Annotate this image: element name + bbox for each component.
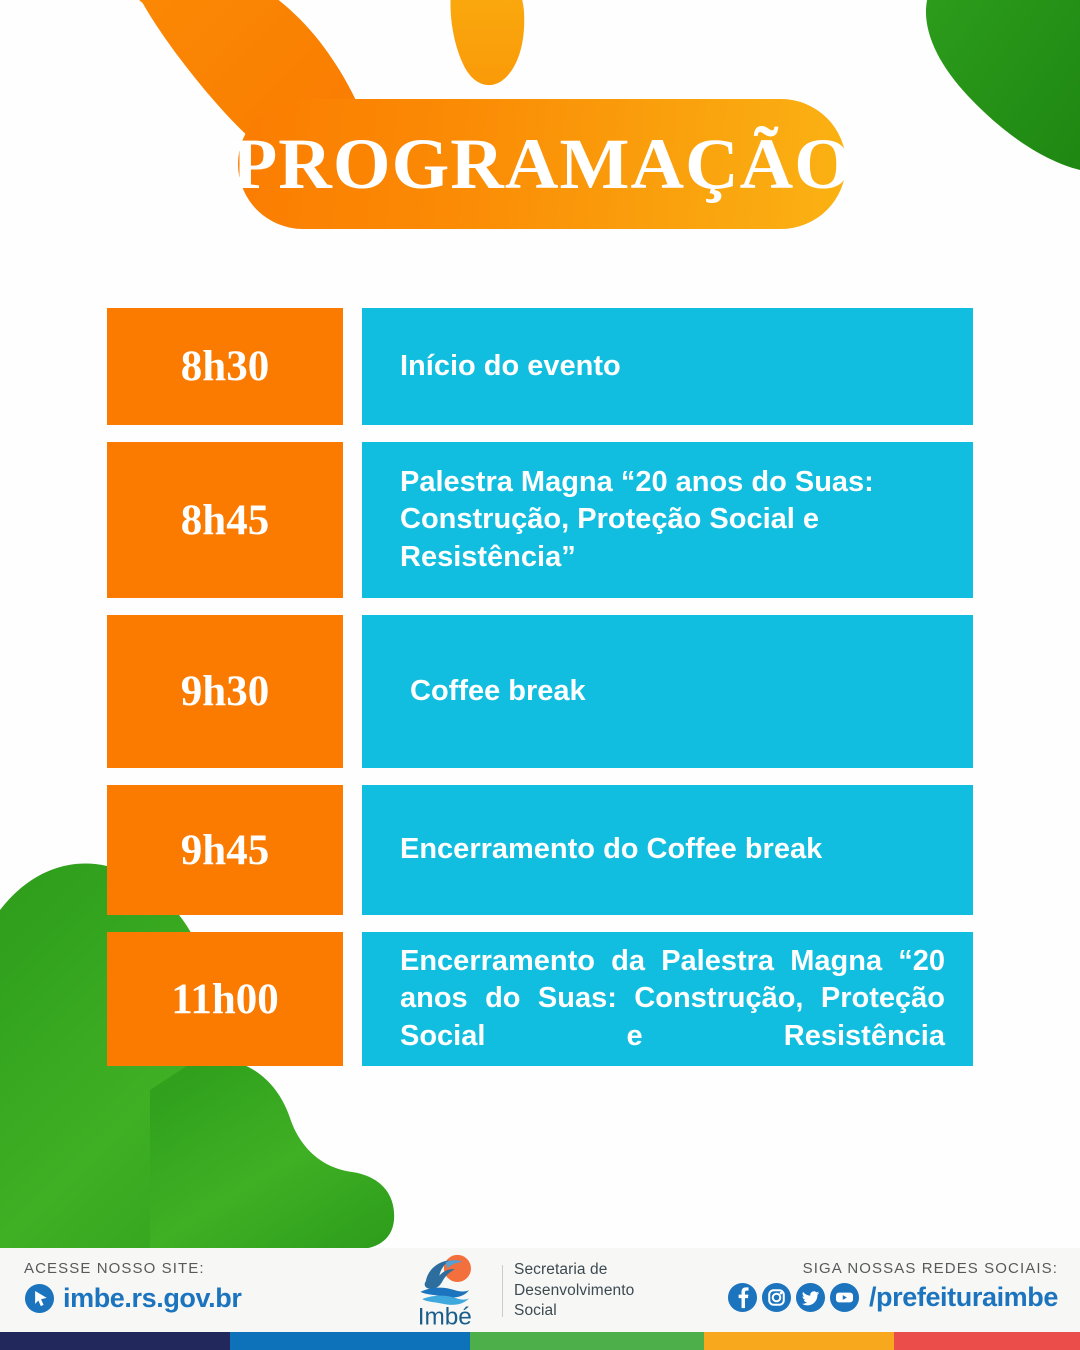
table-row: 9h45 Encerramento do Coffee break xyxy=(107,785,973,915)
brand-color-bar xyxy=(0,1332,1080,1350)
row-gap xyxy=(343,442,362,598)
schedule-description-label: Início do evento xyxy=(400,348,621,385)
footer-logo-block: Imbé Secretaria de Desenvolvimento Socia… xyxy=(413,1254,634,1328)
schedule-description-label: Encerramento do Coffee break xyxy=(400,831,822,868)
schedule-time-cell: 8h30 xyxy=(107,308,343,425)
deco-orange-drop-center xyxy=(451,0,525,85)
colorbar-segment-navy xyxy=(0,1332,230,1350)
imbe-logo: Imbé xyxy=(413,1254,491,1328)
poster-canvas: PROGRAMAÇÃO 8h30 Início do evento 8h45 P… xyxy=(0,0,1080,1350)
schedule-time-label: 9h30 xyxy=(181,670,269,713)
title-banner: PROGRAMAÇÃO xyxy=(238,99,846,229)
social-links: /prefeituraimbe xyxy=(727,1282,1058,1313)
colorbar-segment-blue xyxy=(230,1332,470,1350)
table-row: 8h30 Início do evento xyxy=(107,308,973,425)
secretaria-line-1: Secretaria de xyxy=(514,1260,634,1281)
website-url-label: imbe.rs.gov.br xyxy=(63,1283,241,1314)
colorbar-segment-green xyxy=(470,1332,704,1350)
footer-site-kicker: ACESSE NOSSO SITE: xyxy=(24,1260,241,1277)
schedule-description-cell: Coffee break xyxy=(362,615,973,768)
cursor-pointer-icon xyxy=(24,1283,55,1314)
twitter-icon[interactable] xyxy=(795,1282,826,1313)
schedule-table: 8h30 Início do evento 8h45 Palestra Magn… xyxy=(107,308,973,1066)
schedule-time-cell: 9h30 xyxy=(107,615,343,768)
instagram-icon[interactable] xyxy=(761,1282,792,1313)
schedule-time-cell: 9h45 xyxy=(107,785,343,915)
imbe-wordmark: Imbé xyxy=(418,1303,472,1328)
schedule-description-label: Palestra Magna “20 anos do Suas: Constru… xyxy=(400,464,945,575)
colorbar-segment-red xyxy=(894,1332,1080,1350)
social-handle-label: /prefeituraimbe xyxy=(869,1282,1058,1313)
schedule-time-label: 9h45 xyxy=(181,829,269,872)
footer-social-kicker: SIGA NOSSAS REDES SOCIAIS: xyxy=(727,1260,1058,1277)
schedule-description-label: Coffee break xyxy=(400,673,586,710)
page-title: PROGRAMAÇÃO xyxy=(231,128,852,200)
row-gap xyxy=(343,308,362,425)
secretaria-line-2: Desenvolvimento xyxy=(514,1281,634,1302)
schedule-time-cell: 8h45 xyxy=(107,442,343,598)
schedule-description-cell: Encerramento da Palestra Magna “20 anos … xyxy=(362,932,973,1066)
row-gap xyxy=(343,785,362,915)
website-link[interactable]: imbe.rs.gov.br xyxy=(24,1283,241,1314)
secretaria-subtitle: Secretaria de Desenvolvimento Social xyxy=(514,1260,634,1322)
schedule-description-label: Encerramento da Palestra Magna “20 anos … xyxy=(400,943,945,1054)
deco-green-blob-bottomleft-extension xyxy=(150,1058,394,1250)
table-row: 9h30 Coffee break xyxy=(107,615,973,768)
secretaria-line-3: Social xyxy=(514,1301,634,1322)
sun-shape xyxy=(444,1255,471,1282)
deco-green-blob-topright xyxy=(926,0,1080,170)
footer-social-block: SIGA NOSSAS REDES SOCIAIS: xyxy=(727,1260,1058,1313)
table-row: 11h00 Encerramento da Palestra Magna “20… xyxy=(107,932,973,1066)
footer-website-block: ACESSE NOSSO SITE: imbe.rs.gov.br xyxy=(24,1260,241,1314)
logo-divider xyxy=(502,1265,503,1317)
youtube-icon[interactable] xyxy=(829,1282,860,1313)
schedule-description-cell: Início do evento xyxy=(362,308,973,425)
table-row: 8h45 Palestra Magna “20 anos do Suas: Co… xyxy=(107,442,973,598)
schedule-time-label: 8h30 xyxy=(181,345,269,388)
row-gap xyxy=(343,932,362,1066)
schedule-time-label: 11h00 xyxy=(171,978,279,1021)
colorbar-segment-amber xyxy=(704,1332,894,1350)
schedule-description-cell: Encerramento do Coffee break xyxy=(362,785,973,915)
schedule-time-label: 8h45 xyxy=(181,499,269,542)
facebook-icon[interactable] xyxy=(727,1282,758,1313)
schedule-description-cell: Palestra Magna “20 anos do Suas: Constru… xyxy=(362,442,973,598)
row-gap xyxy=(343,615,362,768)
footer-bar: ACESSE NOSSO SITE: imbe.rs.gov.br xyxy=(0,1248,1080,1332)
schedule-time-cell: 11h00 xyxy=(107,932,343,1066)
